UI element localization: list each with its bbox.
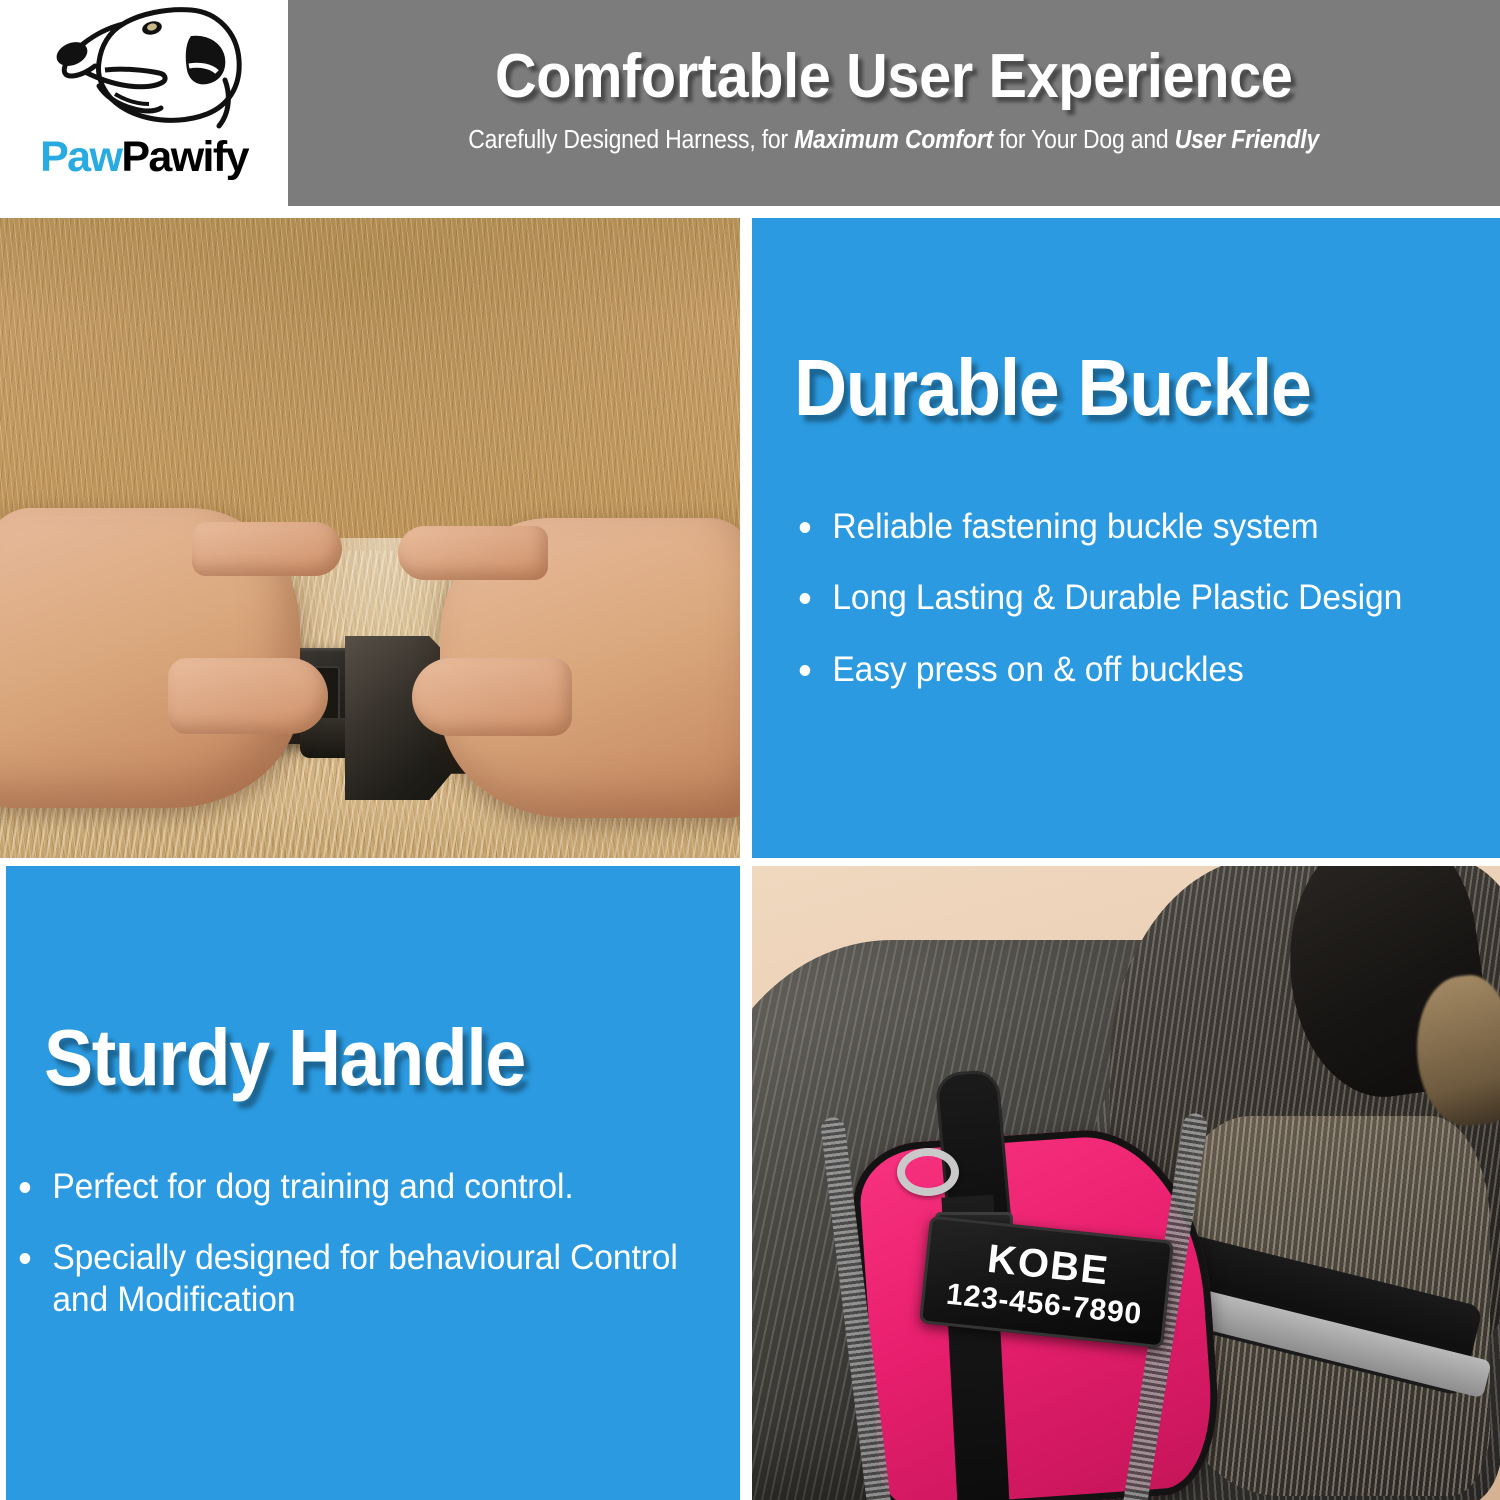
subtitle-emphasis-2: User Friendly — [1175, 126, 1319, 154]
sturdy-handle-bullet-list: Perfect for dog training and control. Sp… — [12, 1166, 712, 1350]
dog-harness-photo-panel: KOBE 123-456-7890 — [752, 866, 1500, 1500]
hand-right — [440, 518, 740, 818]
page-subtitle: Carefully Designed Harness, for Maximum … — [469, 126, 1320, 155]
finger-left-top — [192, 522, 342, 576]
durable-buckle-bullet-list: Reliable fastening buckle system Long La… — [792, 506, 1482, 720]
brand-wordmark: PawPawify — [40, 136, 248, 179]
buckle-photo — [0, 218, 740, 858]
subtitle-text-2: for Your Dog and — [993, 126, 1175, 154]
tag-phone-number: 123-456-7890 — [945, 1279, 1143, 1329]
brand-name-accent: Paw — [40, 133, 121, 181]
dog-head-icon — [39, 2, 249, 142]
list-item: Long Lasting & Durable Plastic Design — [792, 577, 1454, 618]
finger-left-bottom — [168, 658, 328, 734]
product-infographic: PawPawify Comfortable User Experience Ca… — [0, 0, 1500, 1500]
list-item: Perfect for dog training and control. — [12, 1166, 684, 1207]
harness-d-ring — [897, 1148, 959, 1196]
header-banner: PawPawify Comfortable User Experience Ca… — [0, 0, 1500, 206]
sturdy-handle-panel: Sturdy Handle Perfect for dog training a… — [6, 866, 740, 1500]
buckle-photo-panel — [0, 218, 740, 858]
dog-harness-photo: KOBE 123-456-7890 — [752, 866, 1500, 1500]
brand-logo: PawPawify — [0, 0, 288, 206]
list-item: Easy press on & off buckles — [792, 649, 1454, 690]
subtitle-emphasis-1: Maximum Comfort — [794, 126, 993, 154]
sturdy-handle-title: Sturdy Handle — [44, 1018, 525, 1098]
subtitle-text-1: Carefully Designed Harness, for — [469, 126, 795, 154]
list-item: Specially designed for behavioural Contr… — [12, 1237, 684, 1320]
durable-buckle-panel: Durable Buckle Reliable fastening buckle… — [752, 218, 1500, 858]
durable-buckle-title: Durable Buckle — [794, 348, 1311, 428]
finger-right-bottom — [412, 658, 572, 736]
brand-name-main: Pawify — [121, 133, 248, 181]
header-bar: Comfortable User Experience Carefully De… — [288, 0, 1500, 206]
hand-left — [0, 508, 300, 808]
page-title: Comfortable User Experience — [495, 45, 1292, 108]
list-item: Reliable fastening buckle system — [792, 506, 1454, 547]
finger-right-top — [398, 526, 548, 580]
